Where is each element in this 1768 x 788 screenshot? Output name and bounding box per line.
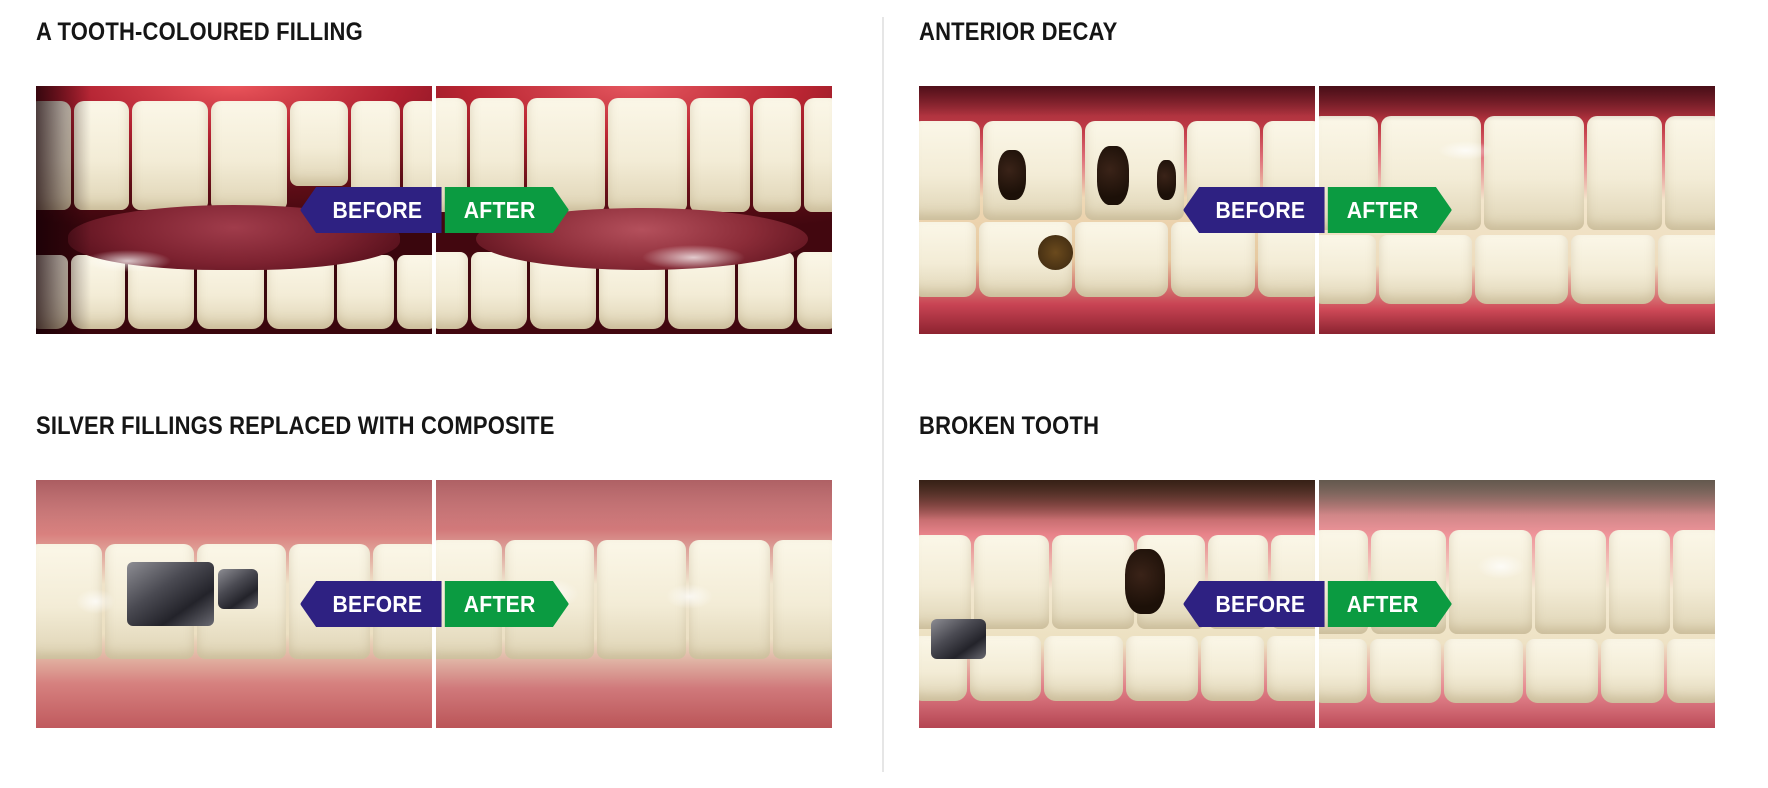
case-silver-fillings-replaced-with-composite: SILVER FILLINGS REPLACED WITH COMPOSITE xyxy=(0,394,883,788)
before-after-badges: BEFORE AFTER xyxy=(1183,187,1452,233)
after-badge[interactable]: AFTER xyxy=(1328,581,1452,627)
case-title: A TOOTH-COLOURED FILLING xyxy=(36,0,781,47)
case-title: ANTERIOR DECAY xyxy=(919,0,1666,47)
case-anterior-decay: ANTERIOR DECAY xyxy=(883,0,1768,394)
before-badge[interactable]: BEFORE xyxy=(300,187,442,233)
before-after-badges: BEFORE AFTER xyxy=(1183,581,1452,627)
before-after-badges: BEFORE AFTER xyxy=(300,581,569,627)
case-tooth-coloured-filling: A TOOTH-COLOURED FILLING xyxy=(0,0,883,394)
before-badge-label: BEFORE xyxy=(332,197,422,224)
after-badge[interactable]: AFTER xyxy=(445,581,569,627)
before-badge[interactable]: BEFORE xyxy=(1183,187,1325,233)
after-badge-label: AFTER xyxy=(464,591,536,618)
before-badge-label: BEFORE xyxy=(1215,197,1305,224)
after-badge-label: AFTER xyxy=(464,197,536,224)
before-badge[interactable]: BEFORE xyxy=(1183,581,1325,627)
before-after-pair: BEFORE AFTER xyxy=(919,86,1716,334)
before-badge-label: BEFORE xyxy=(1215,591,1305,618)
after-badge[interactable]: AFTER xyxy=(445,187,569,233)
case-title: BROKEN TOOTH xyxy=(919,394,1666,441)
after-badge[interactable]: AFTER xyxy=(1328,187,1452,233)
case-broken-tooth: BROKEN TOOTH xyxy=(883,394,1768,788)
case-title: SILVER FILLINGS REPLACED WITH COMPOSITE xyxy=(36,394,781,441)
before-badge-label: BEFORE xyxy=(332,591,422,618)
before-after-gallery: A TOOTH-COLOURED FILLING xyxy=(0,0,1768,788)
after-badge-label: AFTER xyxy=(1347,591,1419,618)
before-after-pair: BEFORE AFTER xyxy=(919,480,1716,728)
after-badge-label: AFTER xyxy=(1347,197,1419,224)
before-after-pair: BEFORE AFTER xyxy=(36,86,833,334)
before-badge[interactable]: BEFORE xyxy=(300,581,442,627)
before-after-pair: BEFORE AFTER xyxy=(36,480,833,728)
before-after-badges: BEFORE AFTER xyxy=(300,187,569,233)
